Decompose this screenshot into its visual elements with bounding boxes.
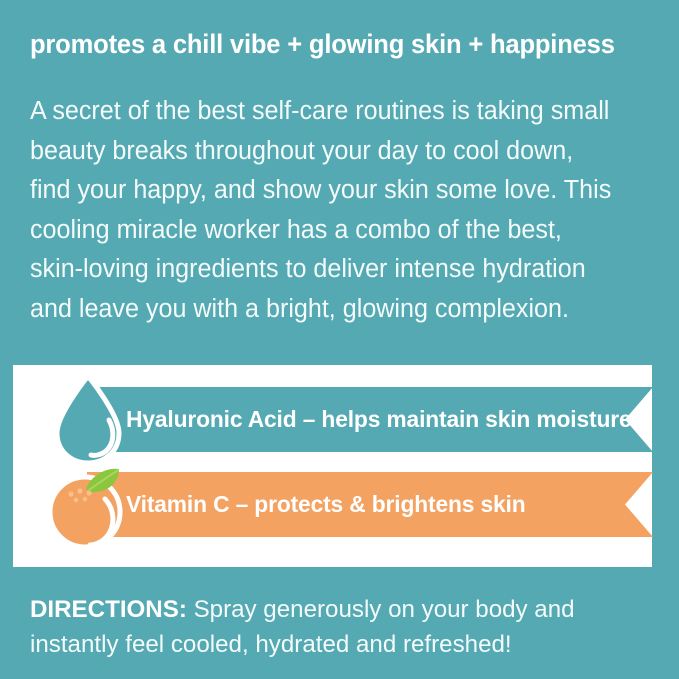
water-drop-icon (49, 374, 127, 466)
product-detail-panel: promotes a chill vibe + glowing skin + h… (0, 0, 679, 679)
intro-paragraph: A secret of the best self-care routines … (30, 92, 645, 329)
page-title: promotes a chill vibe + glowing skin + h… (30, 30, 633, 59)
intro-line: cooling miracle worker has a combo of th… (30, 211, 645, 251)
intro-line: beauty breaks throughout your day to coo… (30, 132, 645, 172)
directions-text: DIRECTIONS: Spray generously on your bod… (30, 592, 646, 662)
intro-line: find your happy, and show your skin some… (30, 171, 645, 211)
ingredient-label: Hyaluronic Acid – helps maintain skin mo… (126, 406, 631, 433)
intro-line: and leave you with a bright, glowing com… (30, 290, 645, 330)
orange-fruit-icon (45, 461, 131, 549)
directions-label: DIRECTIONS: (30, 596, 187, 623)
ingredient-banner-vitamin-c: Vitamin C – protects & brightens skin (87, 472, 653, 537)
ingredient-label: Vitamin C – protects & brightens skin (126, 491, 526, 518)
intro-line: skin-loving ingredients to deliver inten… (30, 250, 645, 290)
intro-line: A secret of the best self-care routines … (30, 92, 645, 132)
ingredients-card: Hyaluronic Acid – helps maintain skin mo… (13, 365, 652, 567)
ingredient-banner-hyaluronic-acid: Hyaluronic Acid – helps maintain skin mo… (87, 387, 653, 452)
